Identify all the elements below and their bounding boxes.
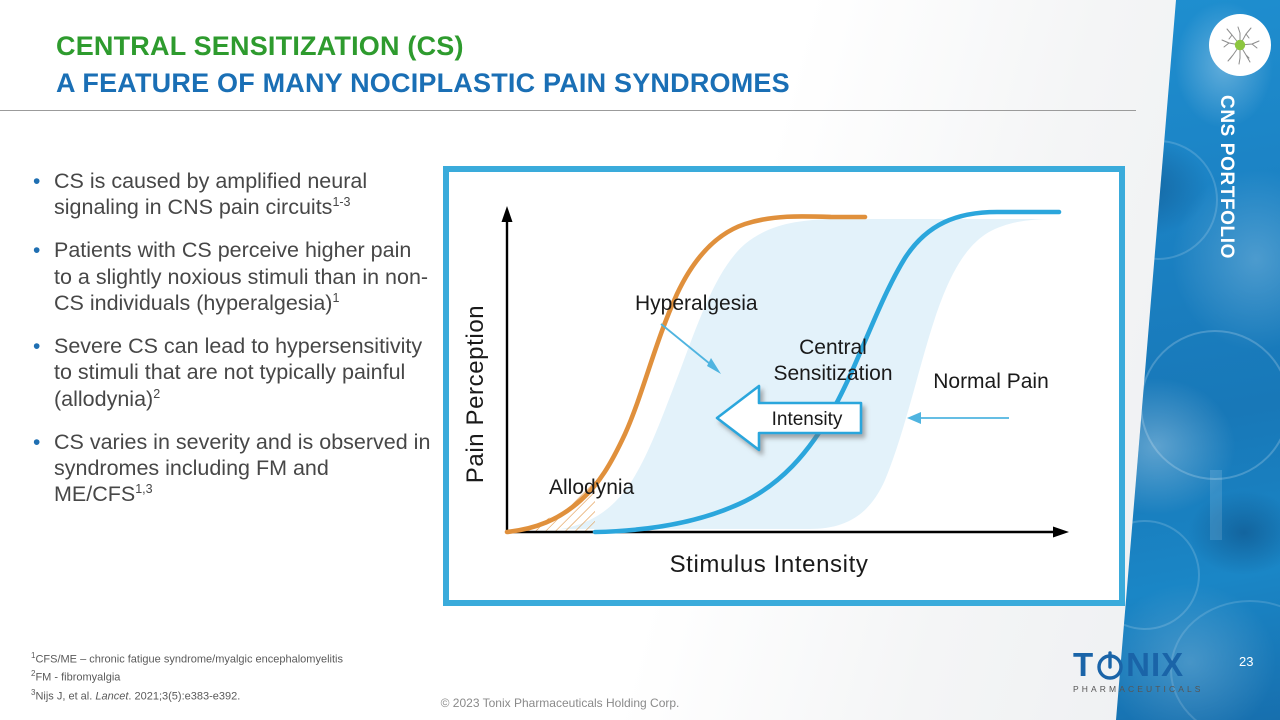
title-divider bbox=[0, 110, 1136, 111]
sidebar-label-cns-portfolio: CNS PORTFOLIO bbox=[1211, 95, 1237, 325]
pain-perception-chart: Pain Perception Stimulus Intensity Hyper… bbox=[443, 166, 1125, 606]
bullet-superscript: 2 bbox=[153, 386, 160, 400]
page-title-line1: CENTRAL SENSITIZATION (CS) bbox=[56, 28, 790, 65]
bullet-marker: • bbox=[33, 168, 54, 220]
glassware-shape bbox=[1210, 470, 1222, 540]
annotation-allodynia: Allodynia bbox=[549, 476, 635, 499]
bullet-text: Severe CS can lead to hypersensitivity t… bbox=[54, 333, 433, 412]
power-symbol-icon bbox=[1095, 650, 1125, 680]
bullet-list: •CS is caused by amplified neural signal… bbox=[33, 168, 433, 524]
annotation-central-sensitization-line2: Sensitization bbox=[773, 362, 892, 385]
annotation-normal-pain-arrowhead bbox=[907, 412, 921, 424]
axis-label-y: Pain Perception bbox=[462, 305, 489, 483]
footnote-item: 2FM - fibromyalgia bbox=[31, 668, 343, 686]
slide-number: 23 bbox=[1239, 654, 1253, 669]
footnote-item: 1CFS/ME – chronic fatigue syndrome/myalg… bbox=[31, 650, 343, 668]
bullet-superscript: 1-3 bbox=[332, 195, 350, 209]
bullet-item: •CS varies in severity and is observed i… bbox=[33, 429, 433, 508]
chart-svg: Pain Perception Stimulus Intensity Hyper… bbox=[449, 172, 1119, 600]
page-title: CENTRAL SENSITIZATION (CS) A FEATURE OF … bbox=[56, 28, 790, 103]
glassware-shape bbox=[1140, 330, 1280, 480]
y-axis-arrowhead bbox=[502, 206, 513, 222]
axis-label-x: Stimulus Intensity bbox=[670, 551, 869, 578]
tonix-letters-nix: NIX bbox=[1126, 648, 1184, 681]
footnote-superscript: 1 bbox=[31, 651, 35, 660]
bullet-item: •Severe CS can lead to hypersensitivity … bbox=[33, 333, 433, 412]
copyright-text: © 2023 Tonix Pharmaceuticals Holding Cor… bbox=[0, 696, 1120, 710]
tonix-subtitle: PHARMACEUTICALS bbox=[1073, 684, 1204, 694]
bullet-superscript: 1 bbox=[332, 291, 339, 305]
x-axis-arrowhead bbox=[1053, 527, 1069, 538]
bullet-text: CS varies in severity and is observed in… bbox=[54, 429, 433, 508]
bullet-marker: • bbox=[33, 237, 54, 316]
slide: CNS PORTFOLIO CENTRAL SENSITIZATION (CS)… bbox=[0, 0, 1280, 720]
footnote-superscript: 2 bbox=[31, 669, 35, 678]
annotation-normal-pain: Normal Pain bbox=[933, 370, 1049, 393]
bullet-text: CS is caused by amplified neural signali… bbox=[54, 168, 433, 220]
bullet-marker: • bbox=[33, 333, 54, 412]
bullet-superscript: 1,3 bbox=[135, 482, 152, 496]
tonix-logo: T NIX PHARMACEUTICALS bbox=[1073, 648, 1204, 694]
neuron-icon bbox=[1209, 14, 1271, 76]
bullet-item: •CS is caused by amplified neural signal… bbox=[33, 168, 433, 220]
page-title-line2: A FEATURE OF MANY NOCIPLASTIC PAIN SYNDR… bbox=[56, 65, 790, 102]
bullet-text: Patients with CS perceive higher pain to… bbox=[54, 237, 433, 316]
annotation-central-sensitization-line1: Central bbox=[799, 336, 867, 359]
annotation-intensity: Intensity bbox=[772, 409, 843, 430]
annotation-hyperalgesia: Hyperalgesia bbox=[635, 292, 758, 315]
bullet-marker: • bbox=[33, 429, 54, 508]
glassware-shape bbox=[1152, 60, 1162, 150]
tonix-wordmark: T NIX bbox=[1073, 648, 1204, 681]
bullet-item: •Patients with CS perceive higher pain t… bbox=[33, 237, 433, 316]
tonix-letter-t: T bbox=[1073, 648, 1094, 681]
